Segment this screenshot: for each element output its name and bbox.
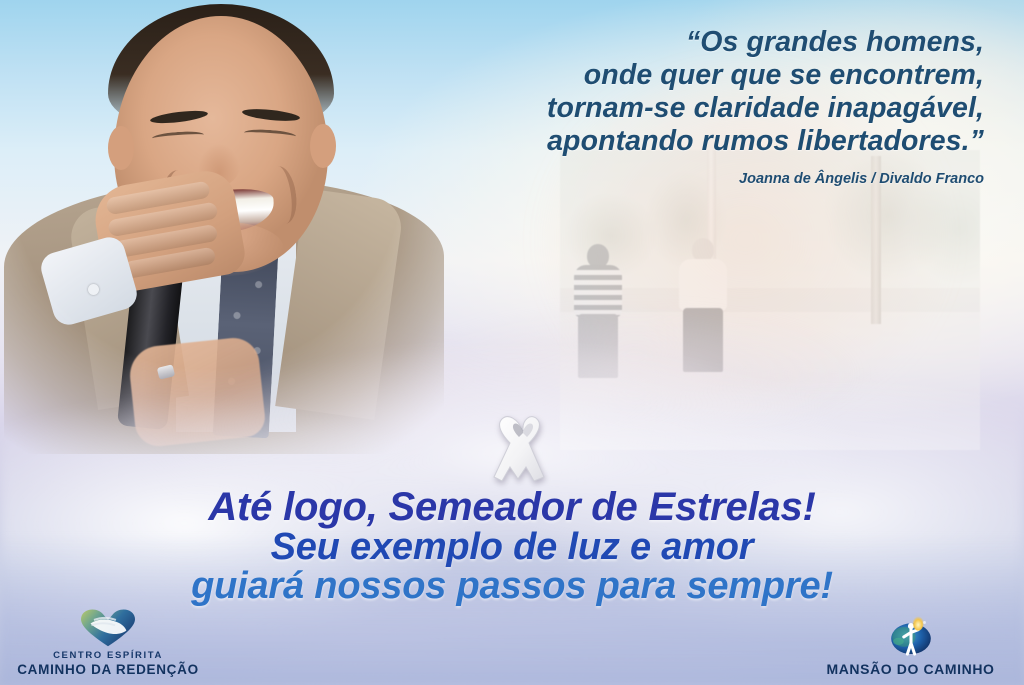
headline-block: Até logo, Semeador de Estrelas! Seu exem… <box>0 487 1024 606</box>
headline-line-3: guiará nossos passos para sempre! <box>0 567 1024 606</box>
quote-line-3: tornam-se claridade inapagável, <box>424 92 984 125</box>
cuff-button <box>88 284 99 295</box>
logo-left-line-1: CENTRO ESPÍRITA <box>10 650 206 661</box>
white-ribbon-icon <box>488 409 558 487</box>
ear-right <box>310 124 336 168</box>
logo-right-line-1: MANSÃO DO CAMINHO <box>803 661 1018 677</box>
headline-line-1: Até logo, Semeador de Estrelas! <box>0 487 1024 528</box>
quote-line-1: “Os grandes homens, <box>424 26 984 59</box>
quote-line-4: apontando rumos libertadores.” <box>424 125 984 158</box>
logo-mansao-do-caminho[interactable]: MANSÃO DO CAMINHO <box>803 618 1018 677</box>
ear-left <box>108 126 134 170</box>
quote-block: “Os grandes homens, onde quer que se enc… <box>424 26 984 187</box>
quote-line-2: onde quer que se encontrem, <box>424 59 984 92</box>
hands-heart-icon <box>10 608 206 648</box>
globe-figure-torch-icon <box>803 618 1018 658</box>
headline-line-2: Seu exemplo de luz e amor <box>0 528 1024 567</box>
memorial-poster: “Os grandes homens, onde quer que se enc… <box>0 0 1024 685</box>
logo-left-line-2: CAMINHO DA REDENÇÃO <box>10 662 206 677</box>
quote-attribution: Joanna de Ângelis / Divaldo Franco <box>424 171 984 187</box>
logo-centro-espirita[interactable]: CENTRO ESPÍRITA CAMINHO DA REDENÇÃO <box>10 608 206 677</box>
